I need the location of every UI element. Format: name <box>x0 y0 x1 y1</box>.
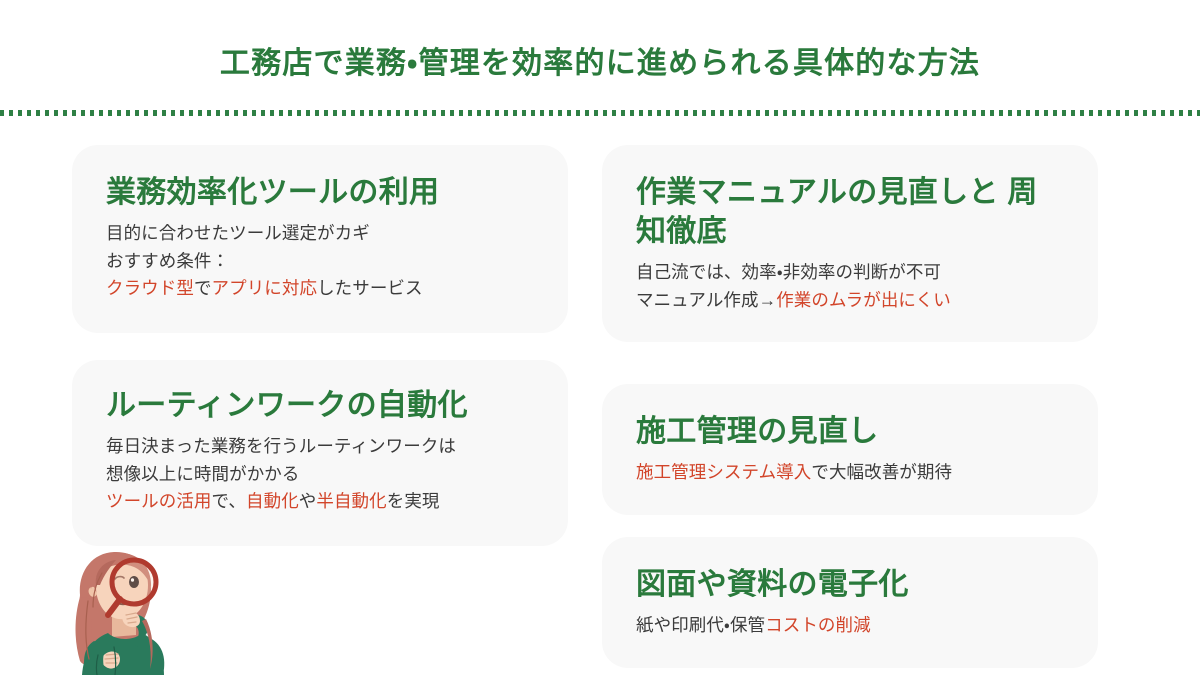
plain-text: で <box>194 278 212 298</box>
card-body: 毎日決まった業務を行うルーティンワークは 想像以上に時間がかかる ツールの活用で… <box>106 433 534 516</box>
body-line: クラウド型でアプリに対応したサービス <box>106 275 534 303</box>
card-body: 紙や印刷代・保管コストの削減 <box>636 612 1064 640</box>
right-card-column: 作業マニュアルの見直しと 周知徹底 自己流では、効率・非効率の判断が不可 マニュ… <box>602 145 1098 668</box>
card-title: 施工管理の見直し <box>636 412 1064 451</box>
card-title: 作業マニュアルの見直しと 周知徹底 <box>636 173 1064 251</box>
highlight-text: 施工管理システム導入 <box>636 462 811 482</box>
illustration-svg <box>58 543 188 675</box>
card-tool-usage: 業務効率化ツールの利用 目的に合わせたツール選定がカギ おすすめ条件： クラウド… <box>72 145 568 333</box>
card-construction-management: 施工管理の見直し 施工管理システム導入で大幅改善が期待 <box>602 384 1098 515</box>
body-line: 毎日決まった業務を行うルーティンワークは <box>106 433 534 461</box>
card-title: 業務効率化ツールの利用 <box>106 173 534 212</box>
page-title: 工務店で業務・管理を効率的に進められる具体的な方法 <box>0 46 1200 82</box>
body-line: 想像以上に時間がかかる <box>106 461 534 489</box>
body-line: おすすめ条件： <box>106 248 534 276</box>
highlight-text: 自動化 <box>246 491 299 511</box>
card-title-line: 作業マニュアルの見直しと <box>636 176 999 209</box>
card-title: ルーティンワークの自動化 <box>106 386 534 425</box>
plain-text: マニュアル作成→ <box>636 290 776 310</box>
body-line: 施工管理システム導入で大幅改善が期待 <box>636 459 1064 487</box>
plain-text: したサービス <box>317 278 423 298</box>
column-gap <box>602 515 1098 537</box>
highlight-text: クラウド型 <box>106 278 194 298</box>
card-body: 自己流では、効率・非効率の判断が不可 マニュアル作成→作業のムラが出にくい <box>636 259 1064 314</box>
column-gap <box>602 342 1098 384</box>
highlight-text: 半自動化 <box>316 491 386 511</box>
woman-with-magnifying-glass-illustration <box>58 543 188 675</box>
plain-text: を実現 <box>387 491 440 511</box>
card-routine-automation: ルーティンワークの自動化 毎日決まった業務を行うルーティンワークは 想像以上に時… <box>72 360 568 546</box>
card-body: 施工管理システム導入で大幅改善が期待 <box>636 459 1064 487</box>
body-line: ツールの活用で、自動化や半自動化を実現 <box>106 488 534 516</box>
plain-text: で、 <box>212 491 246 511</box>
highlight-text: 作業のムラが出にくい <box>776 290 951 310</box>
card-manual-review: 作業マニュアルの見直しと 周知徹底 自己流では、効率・非効率の判断が不可 マニュ… <box>602 145 1098 342</box>
column-gap <box>72 333 568 360</box>
plain-text: や <box>299 491 317 511</box>
plain-text: で大幅改善が期待 <box>811 462 952 482</box>
body-line: 目的に合わせたツール選定がカギ <box>106 220 534 248</box>
card-digitization: 図面や資料の電子化 紙や印刷代・保管コストの削減 <box>602 537 1098 668</box>
highlight-text: アプリに対応 <box>212 278 318 298</box>
card-body: 目的に合わせたツール選定がカギ おすすめ条件： クラウド型でアプリに対応したサー… <box>106 220 534 303</box>
body-line: 紙や印刷代・保管コストの削減 <box>636 612 1064 640</box>
body-line: 自己流では、効率・非効率の判断が不可 <box>636 259 1064 287</box>
body-line: マニュアル作成→作業のムラが出にくい <box>636 287 1064 315</box>
plain-text: 紙や印刷代・保管 <box>636 615 765 635</box>
card-title: 図面や資料の電子化 <box>636 565 1064 604</box>
dotted-divider <box>0 110 1200 116</box>
highlight-text: コストの削減 <box>765 615 871 635</box>
highlight-text: ツールの活用 <box>106 491 212 511</box>
left-card-column: 業務効率化ツールの利用 目的に合わせたツール選定がカギ おすすめ条件： クラウド… <box>72 145 568 546</box>
